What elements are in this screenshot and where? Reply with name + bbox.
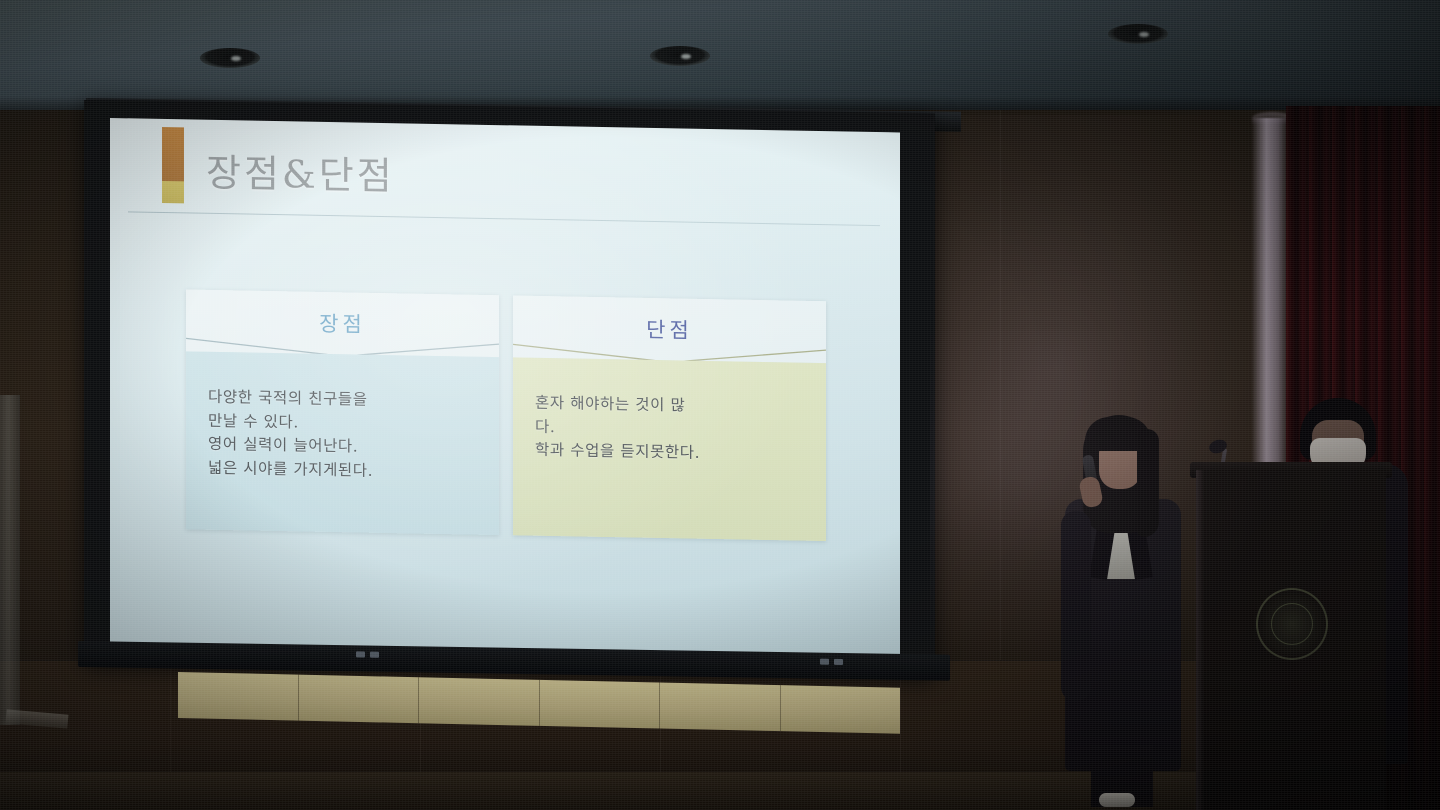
wall-panel [178, 672, 299, 721]
panel-cons: 단점 혼자 해야하는 것이 많 다. 학과 수업을 듣지못한다. [513, 295, 826, 541]
comparison-panels: 장점 다양한 국적의 친구들을 만날 수 있다. 영어 실력이 늘어난다. 넓은… [186, 289, 826, 541]
institution-emblem-icon [1256, 588, 1328, 660]
panel-cons-header: 단점 [513, 295, 826, 363]
wall-panel [540, 680, 661, 729]
title-divider [128, 211, 880, 226]
panel-cons-line: 혼자 해야하는 것이 많 [535, 392, 804, 420]
panel-cons-heading: 단점 [646, 314, 693, 345]
lectern [1196, 470, 1386, 810]
wall-panel [781, 685, 901, 734]
wall-panel [299, 675, 420, 724]
presenter-shoe [1099, 793, 1135, 807]
accent-square-icon [162, 181, 184, 203]
panel-pros-header: 장점 [186, 289, 499, 357]
ceiling-downlight-icon [200, 48, 260, 68]
panel-pros-line: 넓은 시야를 가지게된다. [208, 456, 477, 484]
whiteboard-edge [0, 395, 20, 725]
wall-panel [419, 677, 540, 726]
panel-pros-body: 다양한 국적의 친구들을 만날 수 있다. 영어 실력이 늘어난다. 넓은 시야… [186, 351, 499, 535]
presenter-arm [1061, 511, 1091, 701]
panel-pros: 장점 다양한 국적의 친구들을 만날 수 있다. 영어 실력이 늘어난다. 넓은… [186, 289, 499, 535]
lecture-hall-photo: 장점&단점 장점 다양한 국적의 친구들을 만날 수 있다. 영어 실력이 늘어… [0, 0, 1440, 810]
panel-cons-body: 혼자 해야하는 것이 많 다. 학과 수업을 듣지못한다. [513, 357, 826, 541]
presentation-slide: 장점&단점 장점 다양한 국적의 친구들을 만날 수 있다. 영어 실력이 늘어… [110, 118, 900, 658]
panel-cons-line: 학과 수업을 듣지못한다. [535, 439, 804, 467]
presenter-with-microphone [1055, 415, 1195, 810]
wall-panel [660, 683, 781, 732]
ceiling-downlight-icon [1108, 24, 1168, 44]
ceiling-downlight-icon [650, 46, 710, 66]
slide-title: 장점&단점 [206, 142, 395, 200]
panel-pros-heading: 장점 [319, 308, 366, 339]
